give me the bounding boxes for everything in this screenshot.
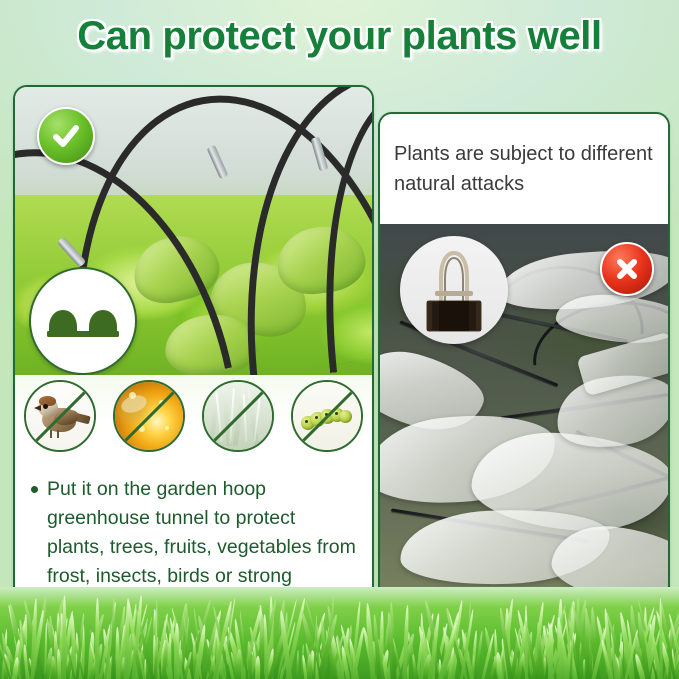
frost-icon [202, 380, 274, 452]
infographic-stage: Can protect your plants well [0, 0, 679, 679]
damaged-tunnel-photo [380, 224, 668, 617]
hoop-tunnel-photo [15, 87, 372, 375]
threat-icon-row [15, 375, 372, 457]
unprotected-plants-card: Plants are subject to different natural … [378, 112, 670, 619]
x-circle-icon [600, 242, 654, 296]
page-title: Can protect your plants well [0, 14, 679, 59]
check-circle-icon [37, 107, 95, 165]
attack-heading: Plants are subject to different natural … [394, 139, 654, 199]
sun-icon [113, 380, 185, 452]
grass-blade [296, 650, 299, 679]
bird-icon [24, 380, 96, 452]
hoop-tunnel-icon [29, 267, 137, 375]
grass-strip [0, 587, 679, 679]
binder-clip-icon [400, 236, 508, 344]
caterpillar-icon [291, 380, 363, 452]
bullet-dot-icon [31, 486, 38, 493]
grass-blade [255, 656, 260, 679]
protected-plants-card: Put it on the garden hoop greenhouse tun… [13, 85, 374, 617]
attack-heading-box: Plants are subject to different natural … [380, 114, 668, 224]
